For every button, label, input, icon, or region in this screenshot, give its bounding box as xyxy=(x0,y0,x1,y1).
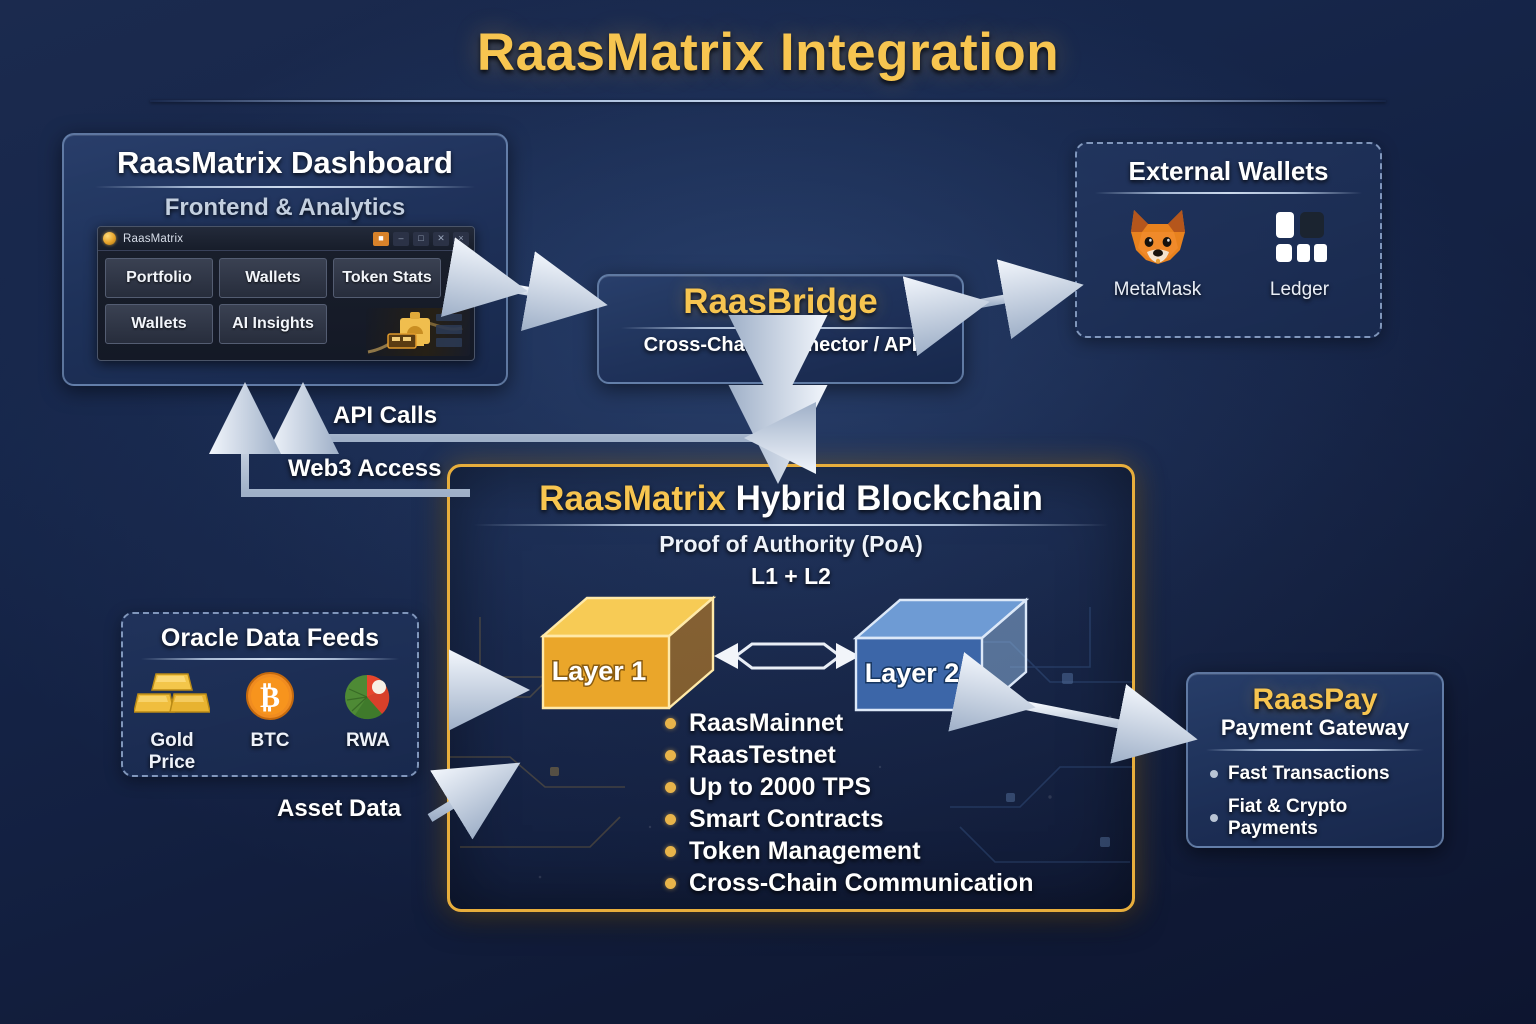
wallet-item-ledger[interactable]: Ledger xyxy=(1255,206,1345,301)
bullet-icon xyxy=(665,782,676,793)
app-button-wallets-top[interactable]: Wallets xyxy=(219,258,327,298)
feature-row: Cross-Chain Communication xyxy=(665,869,1033,898)
connector-label-web3-access: Web3 Access xyxy=(288,455,441,483)
ledger-logo-icon xyxy=(1264,206,1336,270)
feature-label: RaasMainnet xyxy=(689,709,843,738)
wallet-item-metamask[interactable]: MetaMask xyxy=(1113,206,1203,301)
layer-interconnect-arrow xyxy=(712,634,862,678)
oracle-label-btc: BTC xyxy=(232,730,308,752)
bullet-icon xyxy=(665,750,676,761)
app-button-wallets-bottom[interactable]: Wallets xyxy=(105,304,213,344)
blockchain-feature-list: RaasMainnet RaasTestnet Up to 2000 TPS S… xyxy=(665,709,1033,901)
layer1-cube-icon[interactable]: Layer 1 xyxy=(535,592,725,718)
feature-row: Token Management xyxy=(665,837,1033,866)
feature-row: Smart Contracts xyxy=(665,805,1033,834)
oracle-data-feeds-panel[interactable]: Oracle Data Feeds Gold Price ₿ xyxy=(121,612,419,777)
dashboard-panel[interactable]: RaasMatrix Dashboard Frontend & Analytic… xyxy=(62,133,508,386)
raaspay-feature-row: Fiat & Crypto Payments xyxy=(1210,796,1442,840)
bullet-icon xyxy=(665,878,676,889)
blockchain-cubes: Layer 1 Layer 2 xyxy=(450,592,1132,712)
bullet-icon xyxy=(1210,814,1218,822)
blockchain-layers-label: L1 + L2 xyxy=(450,563,1132,590)
raaspay-feature-row: Fast Transactions xyxy=(1210,763,1442,785)
hybrid-blockchain-panel[interactable]: RaasMatrix Hybrid Blockchain Proof of Au… xyxy=(447,464,1135,912)
connector-label-api-calls: API Calls xyxy=(333,402,437,430)
blockchain-divider xyxy=(474,524,1108,526)
dashboard-divider xyxy=(95,186,475,188)
app-button-ai-insights[interactable]: AI Insights xyxy=(219,304,327,344)
oracle-label-gold: Gold Price xyxy=(134,730,210,774)
app-window-controls[interactable]: ■ – □ ✕ × xyxy=(373,232,469,246)
wallet-label-ledger: Ledger xyxy=(1255,279,1345,301)
oracle-divider xyxy=(141,658,400,660)
feature-label: RaasTestnet xyxy=(689,741,836,770)
diagram-canvas: RaasMatrix Integration RaasMatrix Dashbo… xyxy=(0,0,1536,1024)
raaspay-title: RaasPay xyxy=(1188,683,1442,717)
title-divider xyxy=(150,100,1386,102)
app-button-token-stats[interactable]: Token Stats xyxy=(333,258,441,298)
dashboard-subtitle: Frontend & Analytics xyxy=(64,194,506,222)
raasbridge-divider xyxy=(621,327,940,329)
raaspay-subtitle: Payment Gateway xyxy=(1188,715,1442,741)
blockchain-title: RaasMatrix Hybrid Blockchain xyxy=(450,479,1132,519)
feature-label: Cross-Chain Communication xyxy=(689,869,1033,898)
raasmatrix-coin-icon xyxy=(103,232,116,245)
feature-row: RaasTestnet xyxy=(665,741,1033,770)
page-title: RaasMatrix Integration xyxy=(0,22,1536,83)
arrow-raasbridge-wallets xyxy=(972,288,1066,305)
raaspay-feature-list: Fast Transactions Fiat & Crypto Payments xyxy=(1210,763,1442,840)
feature-row: RaasMainnet xyxy=(665,709,1033,738)
pie-chart-icon xyxy=(340,670,396,722)
bullet-icon xyxy=(665,814,676,825)
oracle-item-rwa[interactable]: RWA xyxy=(330,670,406,774)
oracle-item-gold[interactable]: Gold Price xyxy=(134,670,210,774)
oracle-item-btc[interactable]: ₿ BTC xyxy=(232,670,308,774)
arrow-dashboard-raasbridge xyxy=(510,288,590,302)
wallet-label-metamask: MetaMask xyxy=(1113,279,1203,301)
oracle-label-rwa: RWA xyxy=(330,730,406,752)
feature-label: Token Management xyxy=(689,837,921,866)
raaspay-divider xyxy=(1206,749,1424,751)
svg-text:₿: ₿ xyxy=(260,681,280,714)
connector-label-asset-data: Asset Data xyxy=(277,795,401,823)
feature-label: Smart Contracts xyxy=(689,805,884,834)
bitcoin-icon: ₿ xyxy=(244,670,296,722)
app-button-portfolio[interactable]: Portfolio xyxy=(105,258,213,298)
window-control-shuffle[interactable]: ✕ xyxy=(433,232,449,246)
window-control-minimize[interactable]: – xyxy=(393,232,409,246)
gold-bars-icon xyxy=(134,670,210,722)
window-control-accent[interactable]: ■ xyxy=(373,232,389,246)
gold-vault-analytics-icon xyxy=(366,308,470,356)
oracle-items-row: Gold Price ₿ BTC xyxy=(123,670,417,774)
feature-label: Up to 2000 TPS xyxy=(689,773,871,802)
raaspay-feature-label: Fast Transactions xyxy=(1228,763,1390,785)
external-wallets-divider xyxy=(1095,192,1362,194)
raaspay-panel[interactable]: RaasPay Payment Gateway Fast Transaction… xyxy=(1186,672,1444,848)
blockchain-title-gold: RaasMatrix xyxy=(539,479,726,518)
layer2-cube-icon[interactable]: Layer 2 xyxy=(848,594,1038,720)
external-wallets-title: External Wallets xyxy=(1077,156,1380,187)
app-titlebar: RaasMatrix ■ – □ ✕ × xyxy=(98,227,474,251)
blockchain-title-white: Hybrid Blockchain xyxy=(736,479,1043,518)
bullet-icon xyxy=(1210,770,1218,778)
bullet-icon xyxy=(665,718,676,729)
blockchain-subtitle: Proof of Authority (PoA) xyxy=(450,531,1132,558)
raasbridge-panel[interactable]: RaasBridge Cross-Chain Connector / API xyxy=(597,274,964,384)
raasbridge-title: RaasBridge xyxy=(599,282,962,322)
svg-text:Layer 1: Layer 1 xyxy=(552,656,647,686)
bullet-icon xyxy=(665,846,676,857)
window-control-close[interactable]: × xyxy=(453,232,469,246)
raasbridge-subtitle: Cross-Chain Connector / API xyxy=(599,334,962,357)
svg-text:Layer 2: Layer 2 xyxy=(865,658,960,688)
app-window-title: RaasMatrix xyxy=(123,233,183,245)
dashboard-title: RaasMatrix Dashboard xyxy=(64,145,506,181)
dashboard-app-window[interactable]: RaasMatrix ■ – □ ✕ × Portfolio Wallets T… xyxy=(97,226,475,361)
feature-row: Up to 2000 TPS xyxy=(665,773,1033,802)
external-wallets-panel[interactable]: External Wallets MetaMask xyxy=(1075,142,1382,338)
external-wallets-row: MetaMask Ledger xyxy=(1077,206,1380,301)
raaspay-feature-label: Fiat & Crypto Payments xyxy=(1228,796,1442,840)
oracle-title: Oracle Data Feeds xyxy=(123,624,417,653)
metamask-fox-icon xyxy=(1122,206,1194,270)
window-control-maximize[interactable]: □ xyxy=(413,232,429,246)
